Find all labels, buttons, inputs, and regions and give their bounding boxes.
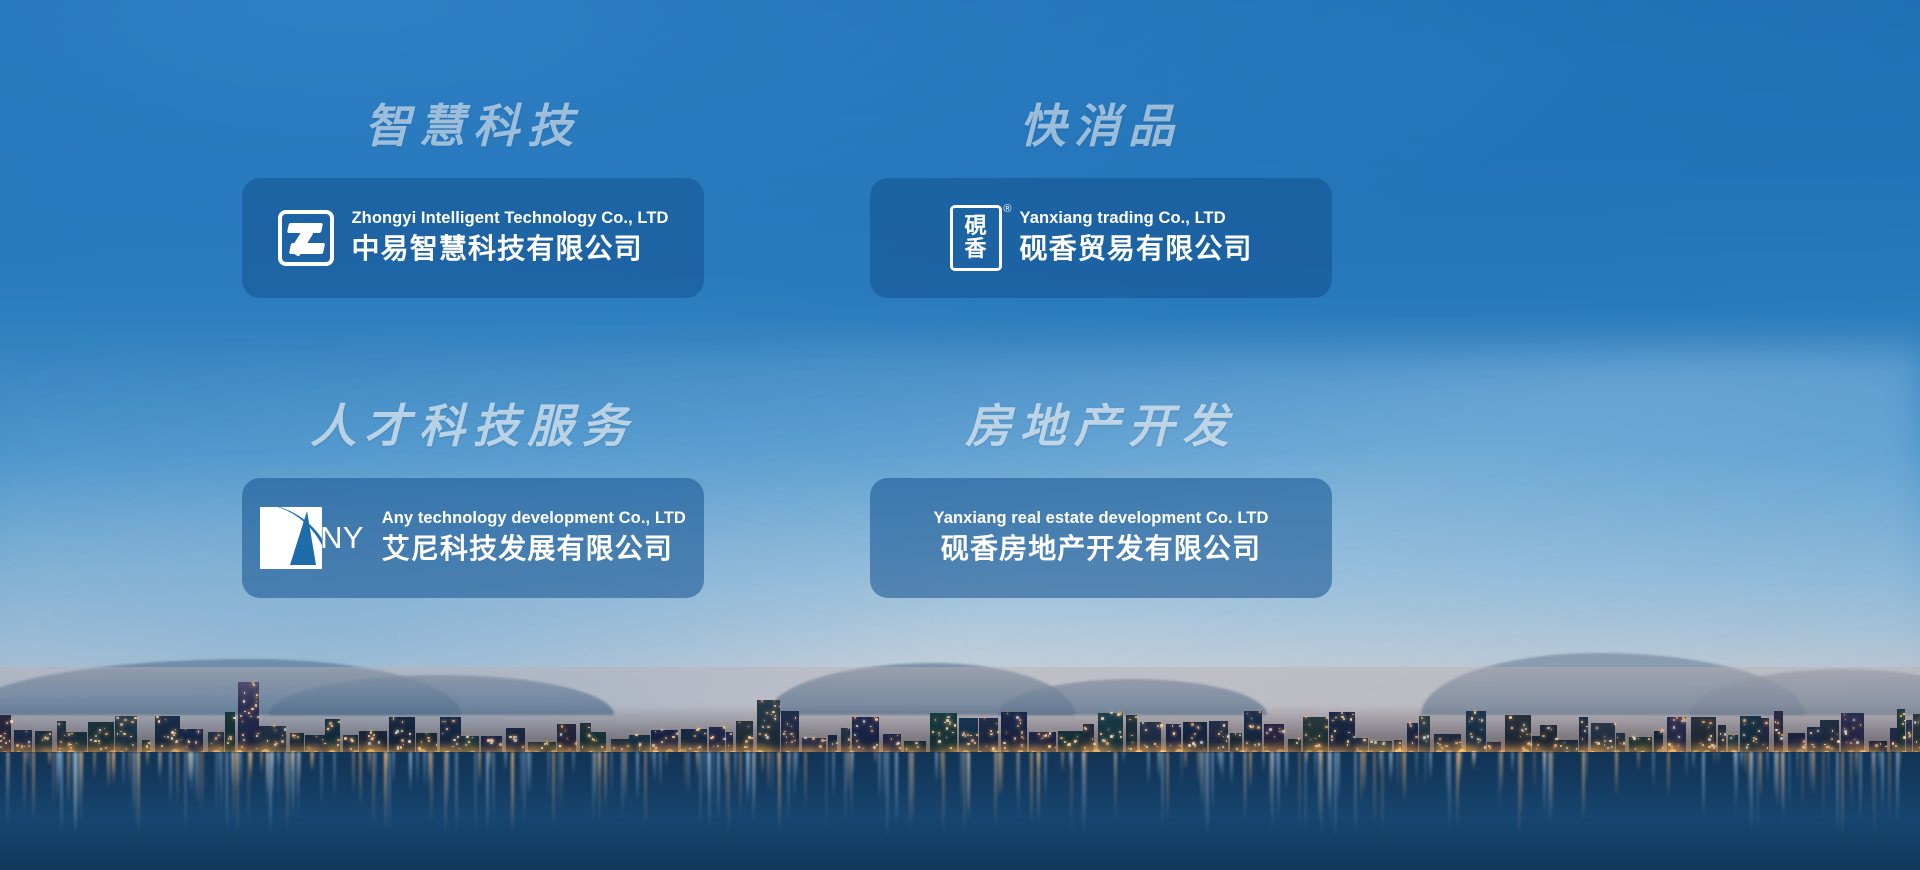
seal-char-bottom: 香 bbox=[965, 238, 987, 260]
company-name-block: Yanxiang trading Co., LTD 砚香贸易有限公司 bbox=[1020, 207, 1253, 268]
any-logo: NY bbox=[260, 507, 364, 569]
company-name-block: Zhongyi Intelligent Technology Co., LTD … bbox=[352, 207, 669, 268]
seal-char-top: 硯 bbox=[965, 215, 987, 237]
company-name-block: Any technology development Co., LTD 艾尼科技… bbox=[382, 507, 686, 568]
section-heading: 智慧科技 bbox=[242, 98, 704, 156]
any-logo-text: NY bbox=[320, 520, 364, 556]
company-name-cn: 砚香房地产开发有限公司 bbox=[934, 531, 1269, 568]
company-name-cn: 中易智慧科技有限公司 bbox=[352, 231, 669, 268]
company-grid: 智慧科技 Zhongyi Intelligent Technology Co.,… bbox=[0, 0, 1920, 870]
company-card-any[interactable]: NY Any technology development Co., LTD 艾… bbox=[242, 478, 704, 598]
yanxiang-seal-logo: 硯 香 ® bbox=[950, 205, 1002, 271]
company-card-yanxiang-real-estate[interactable]: Yanxiang real estate development Co. LTD… bbox=[870, 478, 1332, 598]
company-name-en: Yanxiang real estate development Co. LTD bbox=[934, 507, 1269, 529]
company-name-cn: 砚香贸易有限公司 bbox=[1020, 231, 1253, 268]
company-name-block: Yanxiang real estate development Co. LTD… bbox=[934, 507, 1269, 568]
zhongyi-logo bbox=[278, 210, 334, 266]
section-real-estate: 房地产开发 Yanxiang real estate development C… bbox=[870, 398, 1332, 598]
company-card-zhongyi[interactable]: Zhongyi Intelligent Technology Co., LTD … bbox=[242, 178, 704, 298]
section-talent-tech-service: 人才科技服务 NY Any technology development Co.… bbox=[242, 398, 704, 598]
section-heading: 人才科技服务 bbox=[242, 398, 704, 456]
company-card-yanxiang-trading[interactable]: 硯 香 ® Yanxiang trading Co., LTD 砚香贸易有限公司 bbox=[870, 178, 1332, 298]
section-heading: 房地产开发 bbox=[870, 398, 1332, 456]
registered-mark-icon: ® bbox=[1003, 203, 1011, 215]
company-name-cn: 艾尼科技发展有限公司 bbox=[382, 531, 686, 568]
section-fmcg: 快消品 硯 香 ® Yanxiang trading Co., LTD 砚香贸易… bbox=[870, 98, 1332, 298]
section-smart-technology: 智慧科技 Zhongyi Intelligent Technology Co.,… bbox=[242, 98, 704, 298]
company-name-en: Yanxiang trading Co., LTD bbox=[1020, 207, 1253, 229]
section-heading: 快消品 bbox=[870, 98, 1332, 156]
company-name-en: Any technology development Co., LTD bbox=[382, 507, 686, 529]
company-name-en: Zhongyi Intelligent Technology Co., LTD bbox=[352, 207, 669, 229]
